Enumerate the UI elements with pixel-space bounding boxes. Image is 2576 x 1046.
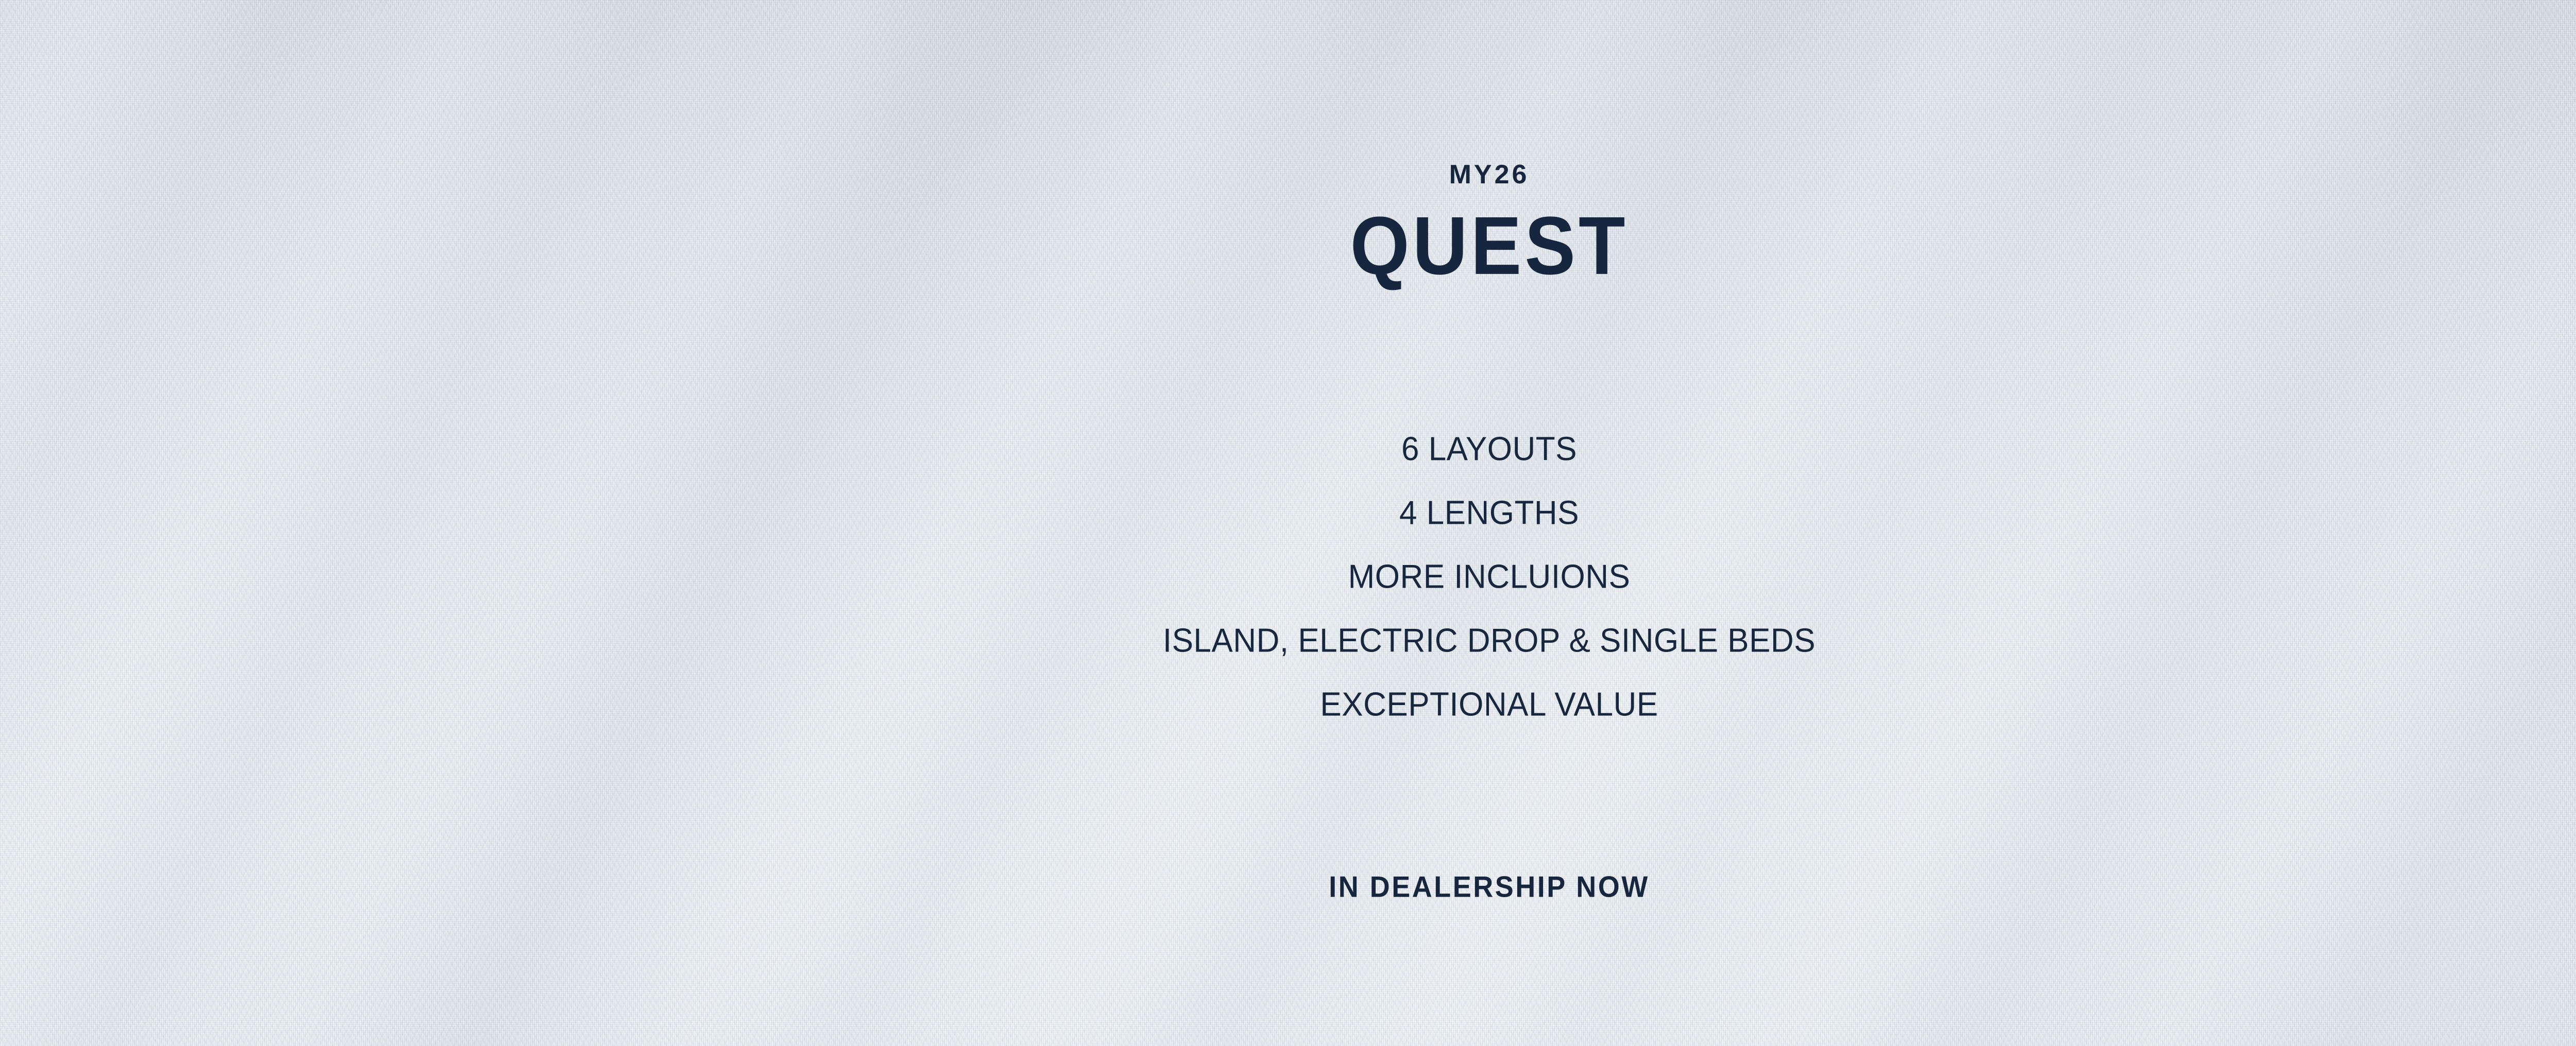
feature-list-item: 6 LAYOUTS xyxy=(0,433,2576,468)
feature-list: 6 LAYOUTS 4 LENGTHS MORE INCLUIONS ISLAN… xyxy=(0,433,2576,752)
feature-list-item: 4 LENGTHS xyxy=(0,496,2576,532)
model-year-eyebrow: MY26 xyxy=(0,161,2576,188)
hero-banner: MY26 QUEST 6 LAYOUTS 4 LENGTHS MORE INCL… xyxy=(0,0,2576,1046)
feature-list-item: EXCEPTIONAL VALUE xyxy=(0,688,2576,724)
feature-list-item: ISLAND, ELECTRIC DROP & SINGLE BEDS xyxy=(0,624,2576,660)
product-wordmark: QUEST xyxy=(0,205,2576,287)
availability-callout: IN DEALERSHIP NOW xyxy=(0,872,2576,902)
hero-content: MY26 QUEST 6 LAYOUTS 4 LENGTHS MORE INCL… xyxy=(0,0,2576,1046)
feature-list-item: MORE INCLUIONS xyxy=(0,560,2576,596)
